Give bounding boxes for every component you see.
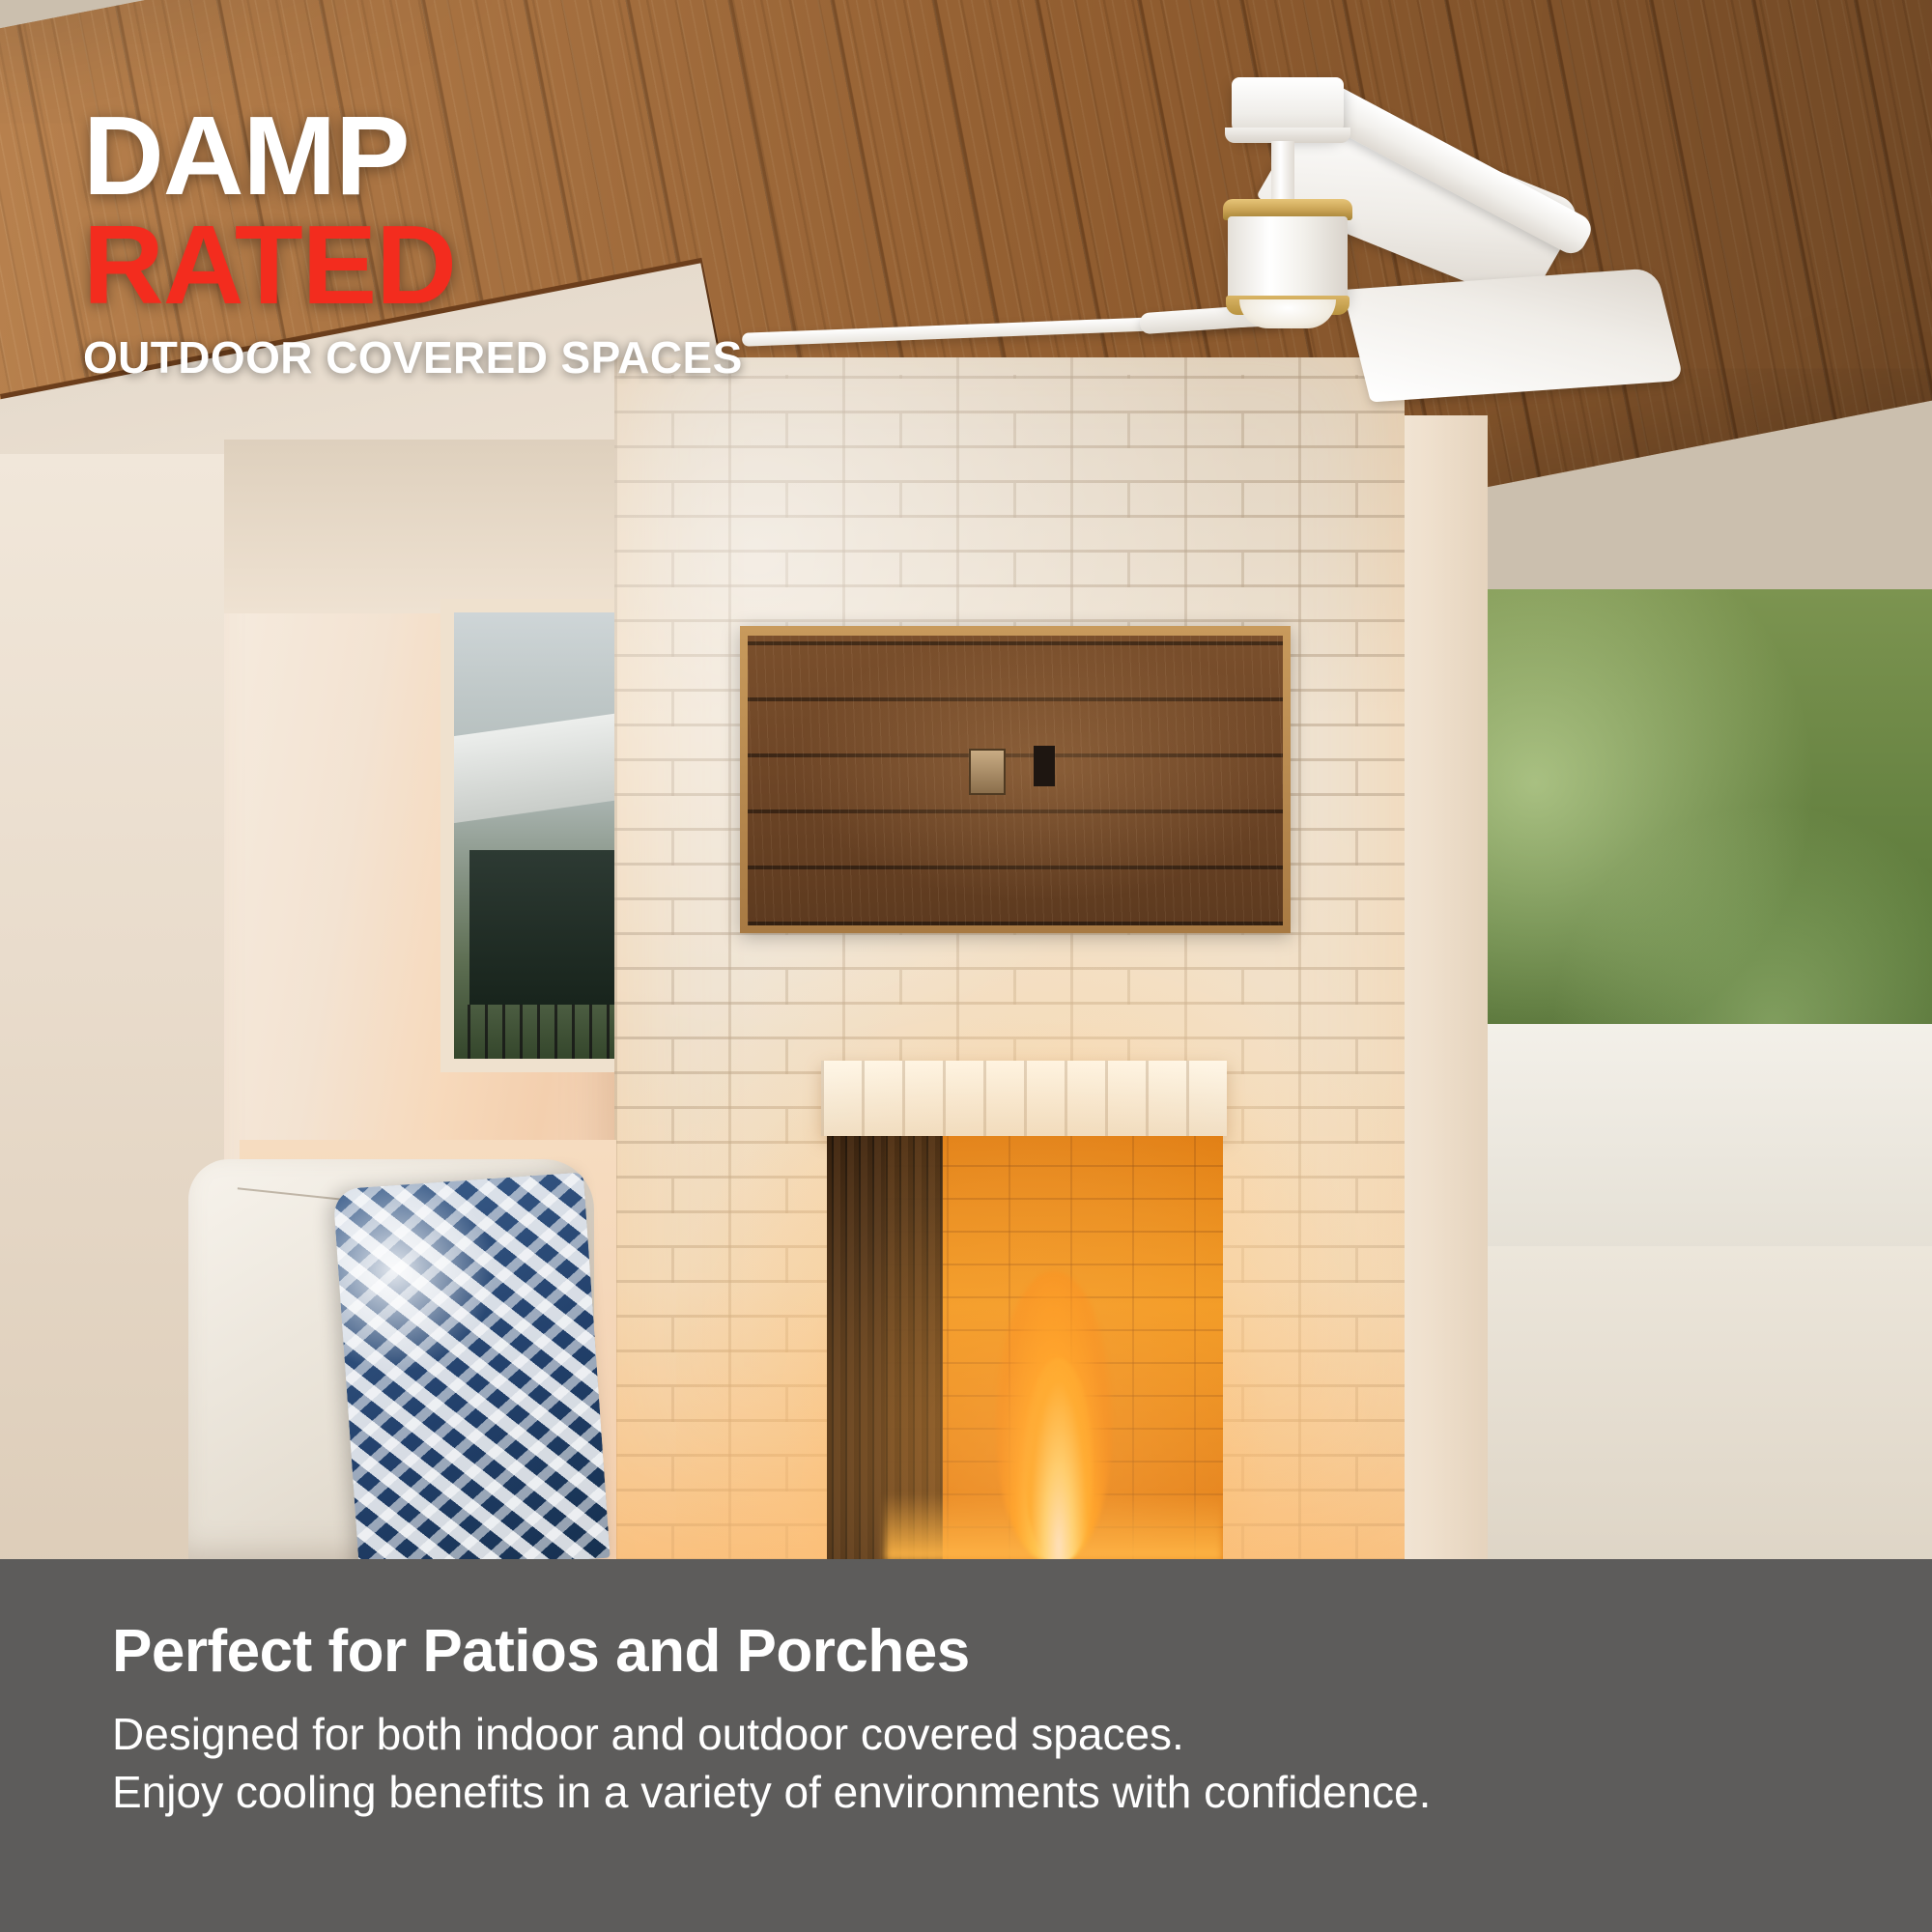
fireplace-mantel xyxy=(821,1061,1227,1136)
caption-bar: Perfect for Patios and Porches Designed … xyxy=(0,1559,1932,1932)
fan-blade xyxy=(1343,268,1684,402)
headline-overlay: DAMP RATED OUTDOOR COVERED SPACES xyxy=(83,104,1049,379)
interior-opening-view xyxy=(450,609,624,1063)
flame-core xyxy=(1025,1358,1093,1559)
caption-body: Designed for both indoor and outdoor cov… xyxy=(112,1706,1851,1822)
fan-motor-housing xyxy=(1228,216,1348,303)
caption-body-line-1: Designed for both indoor and outdoor cov… xyxy=(112,1706,1851,1764)
caption-body-line-2: Enjoy cooling benefits in a variety of e… xyxy=(112,1764,1851,1822)
fan-downrod xyxy=(1271,141,1294,205)
distant-railing xyxy=(450,1005,624,1063)
wood-slat-panel xyxy=(748,636,1283,925)
distant-glass-door xyxy=(469,850,614,1005)
panel-wood-grain xyxy=(748,636,1283,925)
headline-line-1: DAMP xyxy=(83,104,1049,208)
headline-subhead: OUTDOOR COVERED SPACES xyxy=(83,337,1049,378)
caption-title: Perfect for Patios and Porches xyxy=(112,1617,970,1686)
fan-light-lens xyxy=(1239,299,1336,328)
headline-line-2: RATED xyxy=(83,213,1049,317)
wall-plate xyxy=(969,749,1006,795)
product-marketing-poster: DAMP RATED OUTDOOR COVERED SPACES Perfec… xyxy=(0,0,1932,1932)
blue-patterned-pillow xyxy=(332,1172,610,1559)
mantel-brick-joints xyxy=(821,1061,1227,1136)
distant-roofline xyxy=(450,712,624,823)
wood-panel-frame xyxy=(740,626,1291,933)
firebox xyxy=(827,1136,1223,1559)
scene-photo: DAMP RATED OUTDOOR COVERED SPACES xyxy=(0,0,1932,1559)
wall-outlet xyxy=(1034,746,1055,786)
